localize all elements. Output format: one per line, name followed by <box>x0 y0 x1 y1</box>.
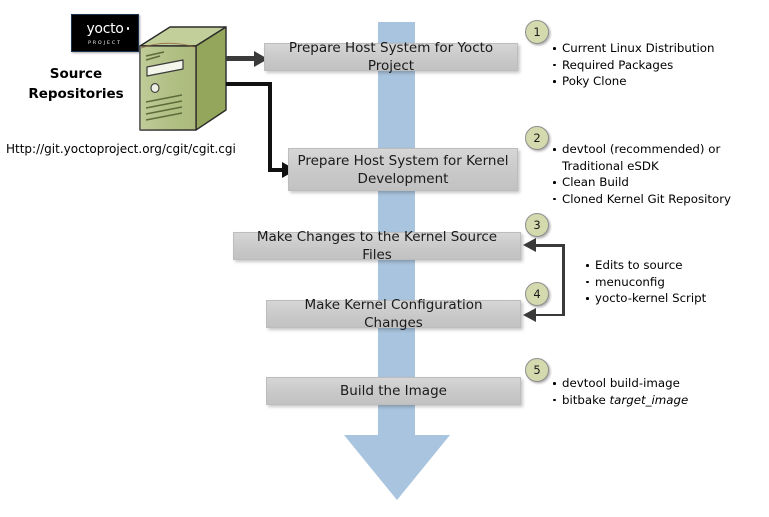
notes-step-2-item-2: Clean Build <box>562 175 629 189</box>
main-flow-arrow-head <box>344 435 450 500</box>
notes-step-5-list: devtool build-image bitbake target_image <box>551 375 688 408</box>
process-box-step-2-label-line2: Development <box>358 170 449 188</box>
notes-step-1-list: Current Linux Distribution Required Pack… <box>551 40 714 90</box>
notes-steps-3-and-4: Edits to source menuconfig yocto-kernel … <box>584 257 706 307</box>
yocto-project-logo: yocto PROJECT <box>71 14 139 52</box>
list-item: Current Linux Distribution <box>551 40 714 57</box>
process-box-step-1-label: Prepare Host System for Yocto Project <box>271 39 511 75</box>
yocto-logo-subtitle: PROJECT <box>72 41 138 46</box>
connector-server-to-step2-horizontal-a <box>226 82 272 86</box>
source-label-line1: Source <box>14 64 138 84</box>
connector-server-to-step2-vertical <box>268 82 272 172</box>
bracket-34-arrowhead-to-step4 <box>523 308 536 322</box>
bracket-34-vertical <box>562 244 565 316</box>
list-item: Cloned Kernel Git Repository <box>551 191 731 208</box>
step-circle-2-number: 2 <box>533 131 540 145</box>
step-circle-4: 4 <box>525 282 549 306</box>
bracket-34-horizontal-bottom <box>535 314 563 317</box>
list-item: devtool (recommended) or <box>551 141 731 158</box>
notes-shared-item-2: yocto-kernel Script <box>595 291 706 305</box>
notes-step-2: devtool (recommended) or Traditional eSD… <box>551 141 731 207</box>
step-circle-4-number: 4 <box>533 287 540 301</box>
process-box-step-5[interactable]: Build the Image <box>266 377 521 405</box>
notes-step-1-item-2: Poky Clone <box>562 74 627 88</box>
source-label-line2: Repositories <box>14 84 138 104</box>
notes-step-5-item-0: devtool build-image <box>562 376 680 390</box>
workflow-diagram: yocto PROJECT Source Repositories Http:/… <box>0 0 769 517</box>
notes-step-1-item-0: Current Linux Distribution <box>562 41 714 55</box>
step-circle-1-number: 1 <box>533 25 540 39</box>
list-item: devtool build-image <box>551 375 688 392</box>
step-circle-2: 2 <box>525 126 549 150</box>
notes-step-2-item-1: Traditional eSDK <box>562 159 659 173</box>
process-box-step-2-label-line1: Prepare Host System for Kernel <box>297 152 508 170</box>
notes-shared-item-0: Edits to source <box>595 258 683 272</box>
step-circle-5: 5 <box>525 358 549 382</box>
process-box-step-4-label: Make Kernel Configuration Changes <box>273 296 514 332</box>
process-box-step-1[interactable]: Prepare Host System for Yocto Project <box>264 43 518 71</box>
source-repositories-label: Source Repositories <box>14 64 138 104</box>
list-item: bitbake target_image <box>551 392 688 409</box>
process-box-step-4[interactable]: Make Kernel Configuration Changes <box>266 300 521 328</box>
process-box-step-2[interactable]: Prepare Host System for Kernel Developme… <box>288 148 518 191</box>
yocto-logo-dot <box>127 27 130 30</box>
list-item: yocto-kernel Script <box>584 290 706 307</box>
bracket-34-arrowhead-to-step3 <box>523 238 536 252</box>
notes-shared-item-1: menuconfig <box>595 275 665 289</box>
notes-step-5-item-1: bitbake <box>562 393 610 407</box>
list-item: Clean Build <box>551 174 731 191</box>
process-box-step-3-label: Make Changes to the Kernel Source Files <box>240 228 514 264</box>
notes-step-5: devtool build-image bitbake target_image <box>551 375 688 408</box>
step-circle-3-number: 3 <box>533 218 540 232</box>
notes-steps-3-and-4-list: Edits to source menuconfig yocto-kernel … <box>584 257 706 307</box>
list-item: Edits to source <box>584 257 706 274</box>
step-circle-5-number: 5 <box>533 363 540 377</box>
list-item-continuation: Traditional eSDK <box>551 158 731 175</box>
notes-step-1: Current Linux Distribution Required Pack… <box>551 40 714 90</box>
bracket-34-horizontal-top <box>535 244 563 247</box>
server-icon-shape <box>138 26 228 136</box>
source-repository-url: Http://git.yoctoproject.org/cgit/cgit.cg… <box>6 142 236 156</box>
notes-step-5-item-1-italic: target_image <box>610 393 689 407</box>
notes-step-2-item-0: devtool (recommended) or <box>562 142 720 156</box>
notes-step-2-list: devtool (recommended) or Traditional eSD… <box>551 141 731 207</box>
step-circle-1: 1 <box>525 20 549 44</box>
list-item: Required Packages <box>551 57 714 74</box>
server-icon <box>138 26 228 136</box>
notes-step-2-item-3: Cloned Kernel Git Repository <box>562 192 731 206</box>
list-item: Poky Clone <box>551 73 714 90</box>
notes-step-1-item-1: Required Packages <box>562 58 673 72</box>
list-item: menuconfig <box>584 274 706 291</box>
process-box-step-3[interactable]: Make Changes to the Kernel Source Files <box>233 232 521 260</box>
process-box-step-5-label: Build the Image <box>340 382 447 400</box>
step-circle-3: 3 <box>525 213 549 237</box>
